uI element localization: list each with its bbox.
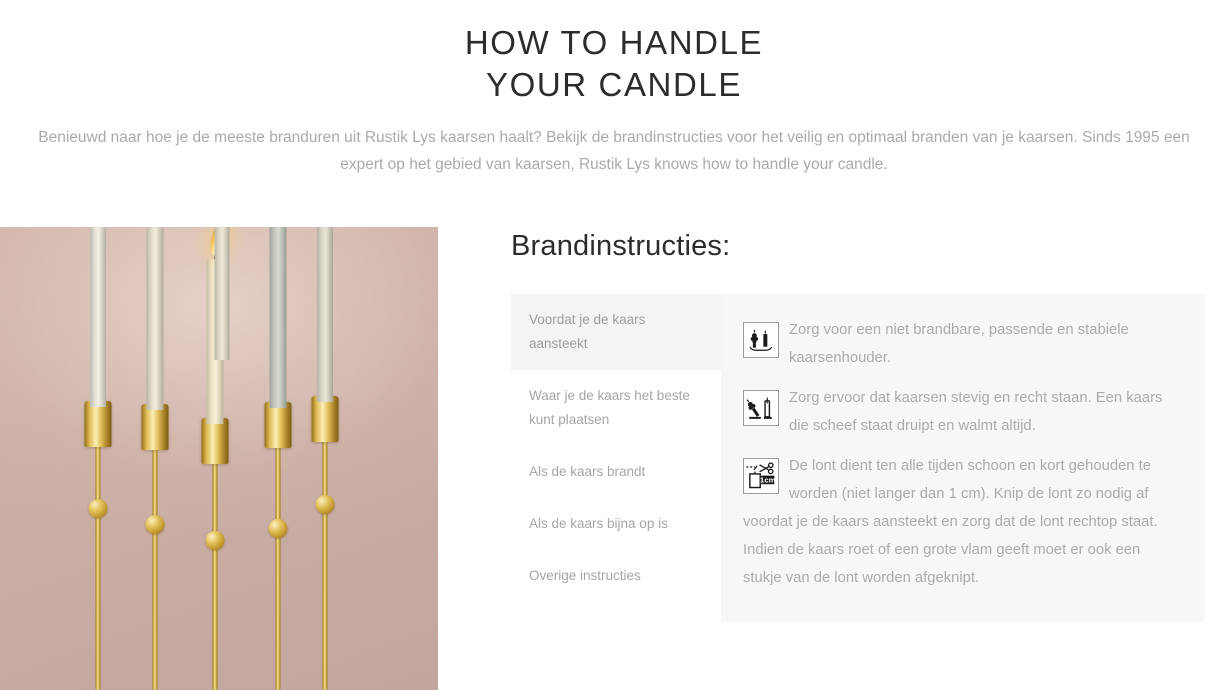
candle-body [270, 227, 287, 408]
instructions-tabs: Voordat je de kaars aansteekt Waar je de… [511, 294, 1205, 622]
tab-waar-je-de-kaars-het-beste-kunt-plaatsen[interactable]: Waar je de kaars het beste kunt plaatsen [511, 370, 721, 446]
candle-body [317, 227, 333, 402]
holder-cup-icon [265, 402, 292, 448]
page-title: HOW TO HANDLE YOUR CANDLE [0, 22, 1228, 106]
holder-stem-icon [153, 432, 158, 690]
svg-text:1cm: 1cm [760, 476, 776, 485]
tab-als-de-kaars-brandt[interactable]: Als de kaars brandt [511, 446, 721, 498]
holder-stem-icon [96, 430, 101, 690]
holder-ball-icon [269, 519, 288, 538]
holder-cup-icon [312, 396, 339, 442]
candle-2 [135, 227, 175, 690]
instruction-text: Zorg ervoor dat kaarsen stevig en recht … [789, 390, 1162, 434]
candle-body [147, 227, 164, 410]
holder-cup-icon [142, 404, 169, 450]
trim-wick-scissors-1cm-icon: 1cm [743, 458, 779, 494]
candle-1 [78, 227, 118, 690]
holder-stem-icon [276, 430, 281, 690]
instructions-column: Brandinstructies: Voordat je de kaars aa… [438, 227, 1228, 690]
candle-6 [305, 227, 345, 690]
candle-4 [202, 227, 242, 690]
candle-upright-not-tilted-icon [743, 390, 779, 426]
holder-ball-icon [316, 495, 335, 514]
candle-body [90, 227, 106, 407]
holder-cup-icon [85, 401, 112, 447]
page-header: HOW TO HANDLE YOUR CANDLE Benieuwd naar … [0, 0, 1228, 178]
page-root: HOW TO HANDLE YOUR CANDLE Benieuwd naar … [0, 0, 1228, 690]
holder-ball-icon [146, 515, 165, 534]
instruction-text: Zorg voor een niet brandbare, passende e… [789, 322, 1129, 366]
instruction-text: De lont dient ten alle tijden schoon en … [743, 458, 1158, 586]
content-row: Brandinstructies: Voordat je de kaars aa… [0, 227, 1228, 690]
candle-5 [258, 227, 298, 690]
tab-panel-content: Zorg voor een niet brandbare, passende e… [721, 294, 1205, 622]
section-title: Brandinstructies: [511, 227, 730, 265]
candles-photo [0, 227, 438, 690]
tab-overige-instructies[interactable]: Overige instructies [511, 550, 721, 602]
tab-voordat-je-de-kaars-aansteekt[interactable]: Voordat je de kaars aansteekt [511, 294, 721, 370]
holder-ball-icon [89, 499, 108, 518]
page-subtitle: Benieuwd naar hoe je de meeste branduren… [16, 124, 1212, 178]
instruction-item-2: Zorg ervoor dat kaarsen stevig en recht … [743, 384, 1181, 440]
instruction-item-3: 1cm De lont dient ten alle tijden schoon… [743, 452, 1181, 592]
instruction-item-1: Zorg voor een niet brandbare, passende e… [743, 316, 1181, 372]
candle-in-holder-icon [743, 322, 779, 358]
holder-stem-icon [323, 422, 328, 690]
tab-list: Voordat je de kaars aansteekt Waar je de… [511, 294, 721, 622]
tab-als-de-kaars-bijna-op-is[interactable]: Als de kaars bijna op is [511, 498, 721, 550]
candle-body [215, 227, 230, 360]
